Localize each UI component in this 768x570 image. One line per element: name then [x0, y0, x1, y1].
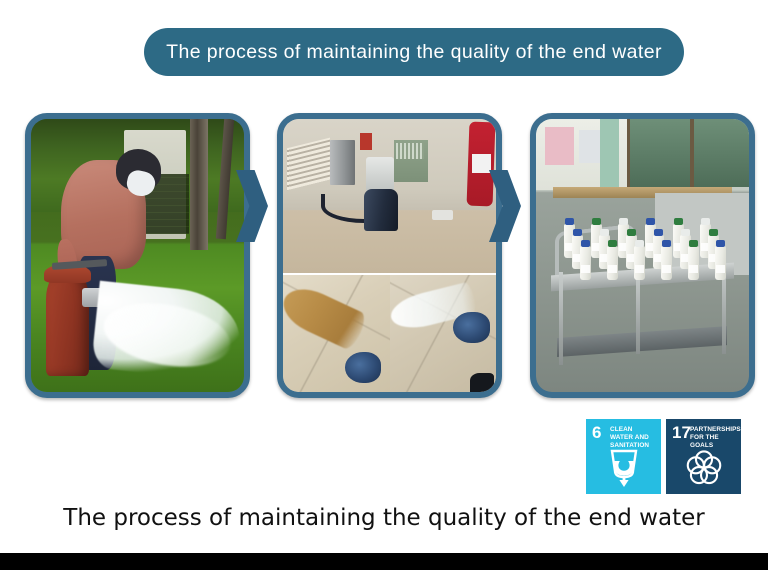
bottle-cap: [619, 218, 628, 225]
sample-bottle: [580, 246, 591, 280]
bottle-cap: [581, 240, 590, 247]
photo-1-scene: [31, 119, 244, 392]
bottle-label: [689, 265, 698, 273]
slide-caption: The process of maintaining the quality o…: [0, 505, 768, 531]
bottle-cap: [646, 218, 655, 225]
bottle-label: [716, 265, 725, 273]
photo-2-scene: [283, 119, 496, 392]
bottle-cap: [592, 218, 601, 225]
sample-bottle: [607, 246, 618, 280]
photo-3-scene: [536, 119, 749, 392]
bottle-cap: [681, 229, 690, 236]
window-mullion: [690, 119, 694, 187]
interlocking-circles-icon: [666, 447, 741, 489]
blue-nozzle-right: [453, 312, 489, 343]
bottle-cap: [608, 240, 617, 247]
page-title: The process of maintaining the quality o…: [166, 41, 662, 64]
cart-leg: [559, 272, 563, 365]
sdg-badge-group: 6 Clean Water and Sanitation 17 Partners…: [586, 419, 741, 494]
bottle-label: [635, 265, 644, 273]
bottom-letterbox-bar: [0, 553, 768, 570]
sample-bottle: [661, 246, 672, 280]
tree-trunk-secondary: [216, 119, 234, 239]
tree-trunk: [190, 119, 208, 250]
indoor-standpipe: [364, 189, 398, 231]
water-glass-icon: [586, 447, 661, 489]
sdg-badge-17[interactable]: 17 Partnerships for the Goals: [666, 419, 741, 494]
sdg-label: Partnerships for the Goals: [690, 426, 737, 449]
bottle-label: [608, 265, 617, 273]
photo-frame-step-3: [530, 113, 755, 398]
sdg-label: Clean Water and Sanitation: [610, 426, 657, 449]
sample-bottle: [715, 246, 726, 280]
sdg-badge-6[interactable]: 6 Clean Water and Sanitation: [586, 419, 661, 494]
photo-standpipe-water-comparison: [283, 119, 496, 392]
bottle-cap: [573, 229, 582, 236]
metal-cabinet: [330, 140, 356, 185]
fire-hydrant: [46, 272, 89, 376]
slide-canvas: The process of maintaining the quality o…: [0, 0, 768, 553]
window-grille: [396, 143, 424, 159]
title-banner: The process of maintaining the quality o…: [144, 28, 684, 76]
sample-bottle-group: [557, 220, 732, 280]
sample-bottle: [634, 246, 645, 280]
photo-sample-bottles-cart: [536, 119, 749, 392]
photo-frame-step-2: [277, 113, 502, 398]
bottle-cap: [600, 229, 609, 236]
floor-sign: [432, 210, 453, 220]
bottle-cap: [565, 218, 574, 225]
sdg-number: 17: [672, 424, 691, 441]
sdg-number: 6: [592, 424, 601, 441]
bottle-cap: [654, 229, 663, 236]
corridor-background: [283, 119, 496, 294]
bottle-cap: [689, 240, 698, 247]
cart-bottom-shelf: [557, 326, 727, 357]
blue-nozzle-left: [345, 352, 381, 383]
wall-poster: [360, 133, 373, 150]
sample-bottle: [688, 246, 699, 280]
standpipe-upper: [366, 157, 394, 192]
inset-clear-water: [390, 273, 497, 392]
lab-window: [627, 119, 749, 187]
cart-leg: [636, 272, 640, 354]
operator-shoe: [470, 373, 493, 392]
staircase: [287, 138, 330, 191]
inset-brown-water: [283, 273, 392, 392]
bottle-cap: [627, 229, 636, 236]
bottle-cap: [716, 240, 725, 247]
notice-poster-a: [545, 127, 575, 165]
photo-hydrant-flushing: [31, 119, 244, 392]
bottle-cap: [662, 240, 671, 247]
bottle-cap: [674, 218, 683, 225]
bottle-cap: [635, 240, 644, 247]
bottle-label: [581, 265, 590, 273]
green-wall-column: [600, 119, 619, 195]
bottle-cap: [701, 218, 710, 225]
bottle-label: [662, 265, 671, 273]
photo-frame-step-1: [25, 113, 250, 398]
bottle-cap: [709, 229, 718, 236]
red-banner-label: [472, 154, 491, 173]
